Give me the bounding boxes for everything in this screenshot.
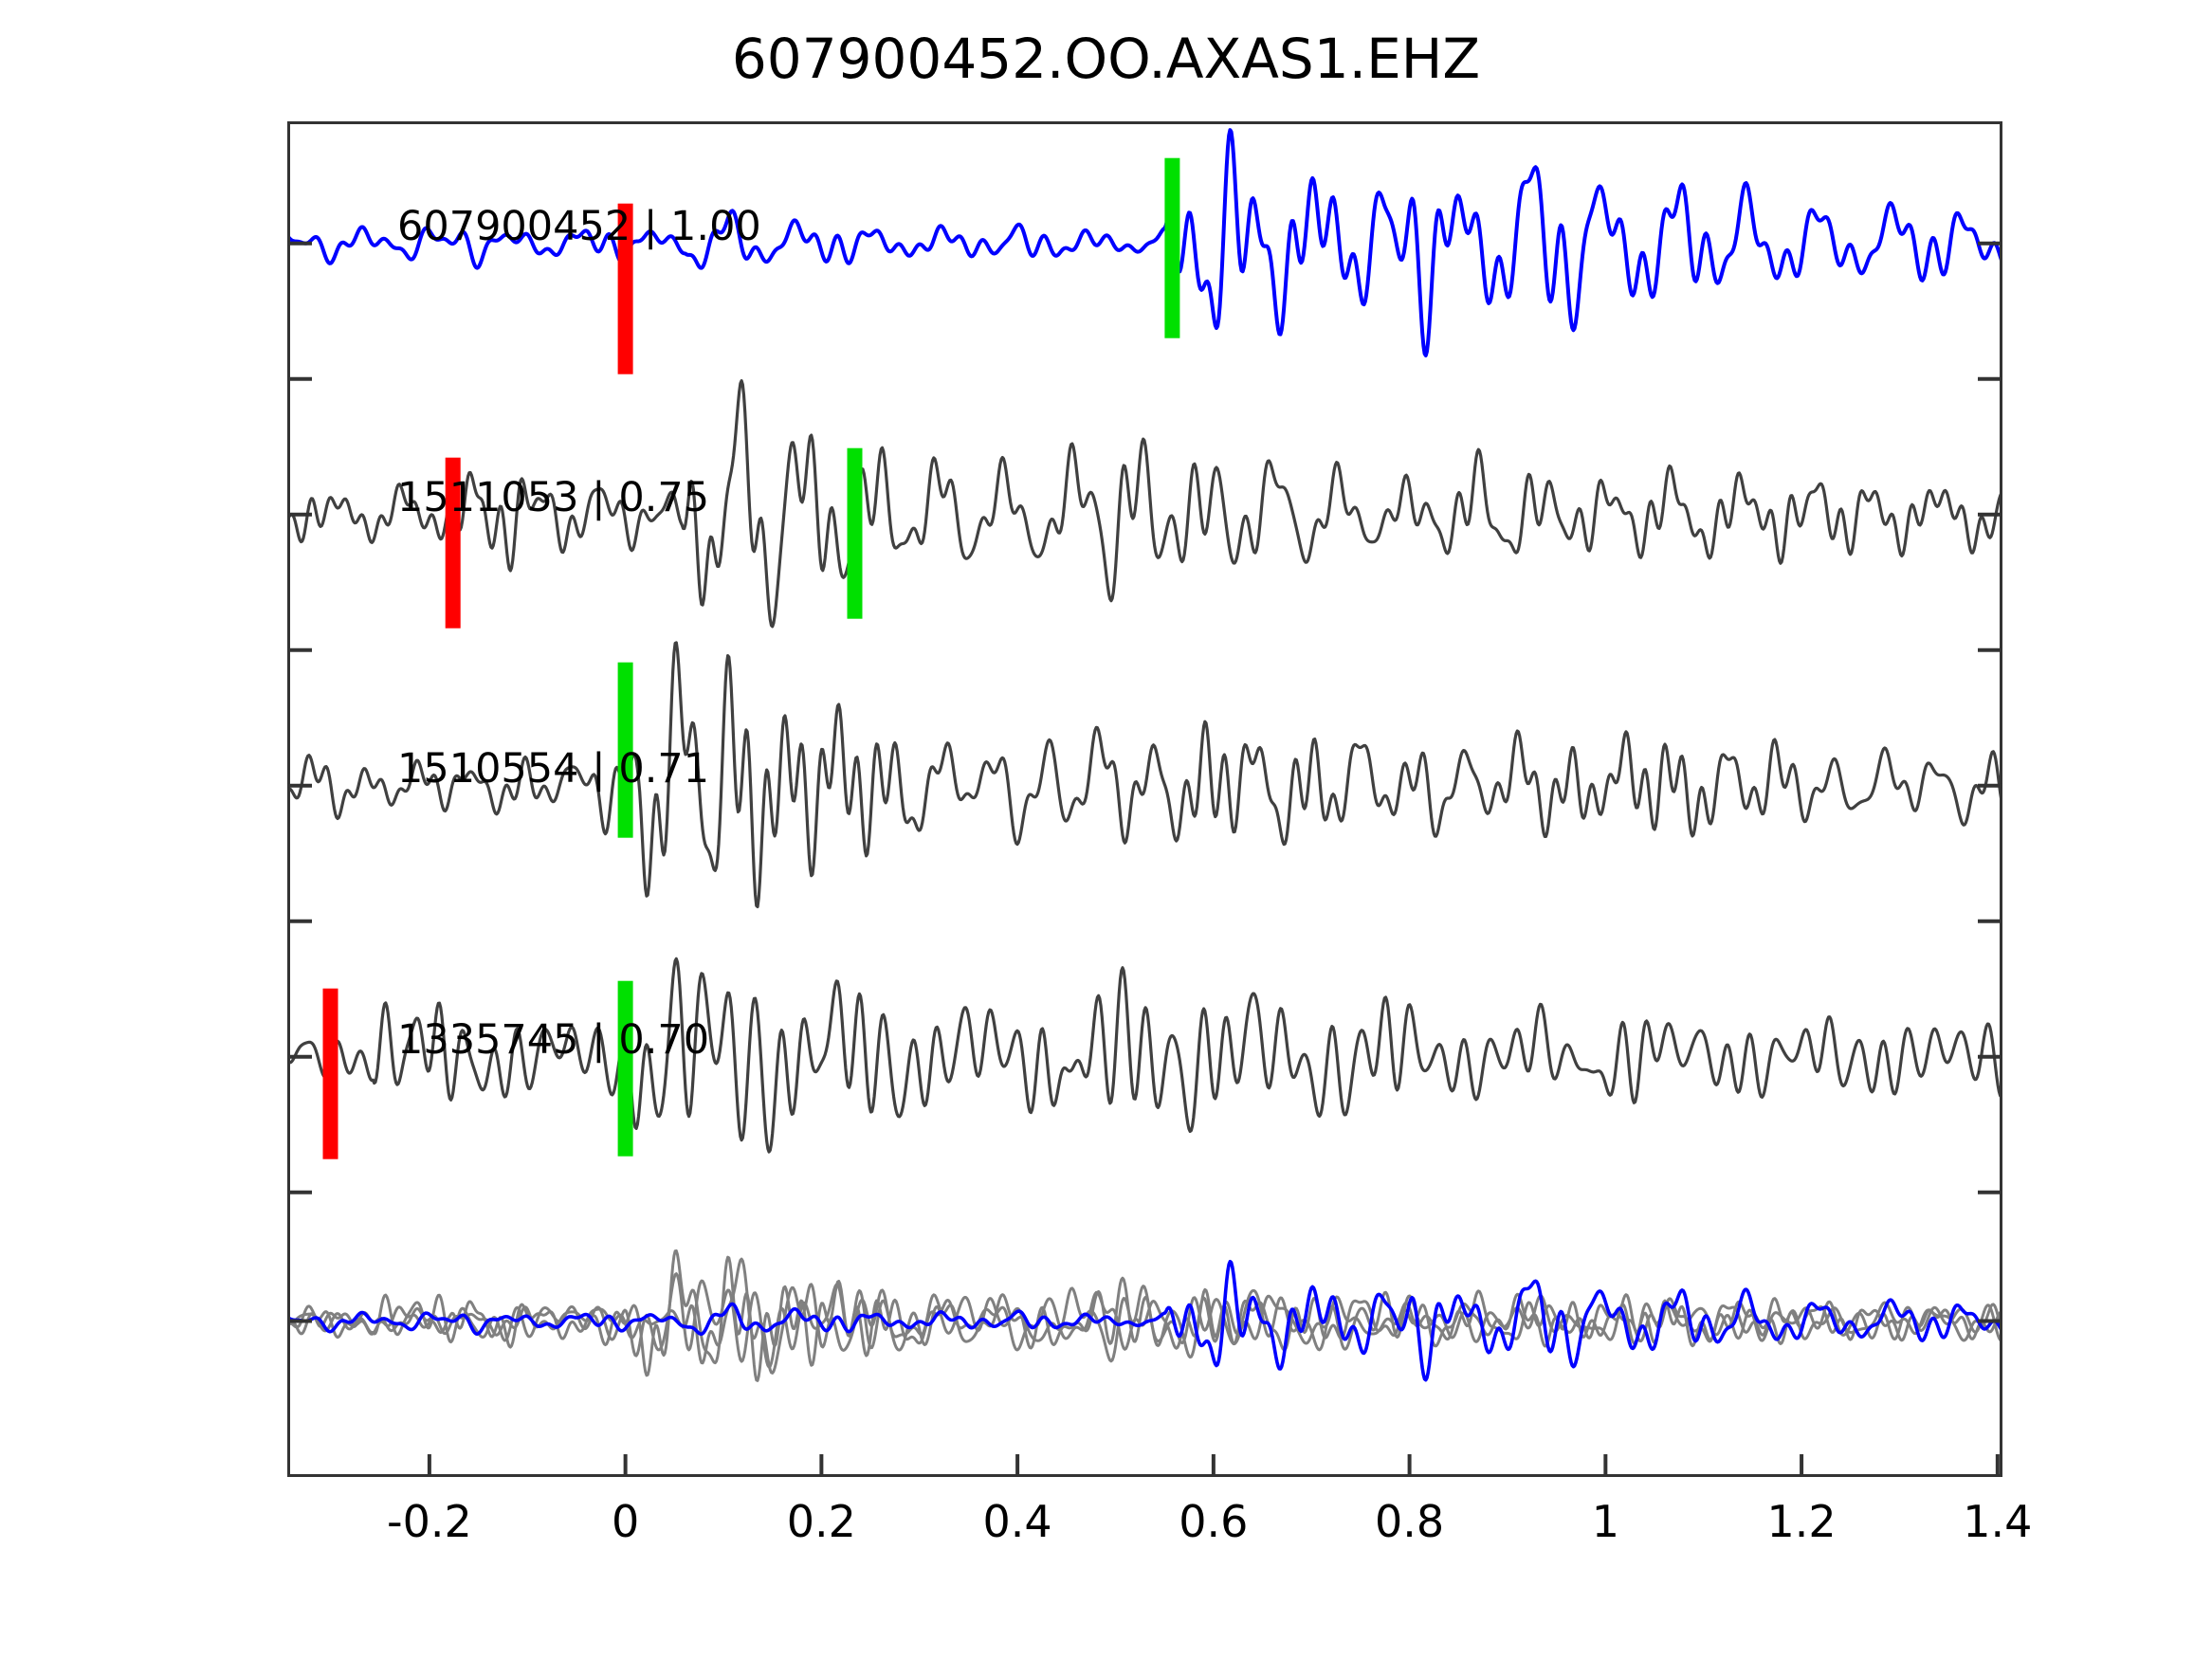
- trace-label-2: 1510554 | 0.71: [397, 745, 709, 793]
- s-pick-marker: [618, 981, 633, 1157]
- x-tick-label: 0.8: [1375, 1496, 1444, 1547]
- plot-area: 607900452 | 1.00 1511053 | 0.75 1510554 …: [287, 121, 2002, 1477]
- axes-frame: [288, 122, 2002, 1476]
- p-pick-marker: [323, 989, 338, 1159]
- seismogram-figure: 607900452.OO.AXAS1.EHZ 607900452 | 1.00 …: [0, 0, 2212, 1659]
- x-tick-label: 1.4: [1963, 1496, 2032, 1547]
- s-pick-marker: [1164, 158, 1179, 338]
- x-tick-label: 0.2: [787, 1496, 856, 1547]
- trace-label-0: 607900452 | 1.00: [397, 203, 761, 250]
- x-tick-label: 0.4: [983, 1496, 1052, 1547]
- x-tick-label: 0.6: [1179, 1496, 1248, 1547]
- waveform-canvas: [287, 121, 2002, 1477]
- x-tick-label: 1: [1592, 1496, 1619, 1547]
- x-tick-label: 0: [612, 1496, 639, 1547]
- s-pick-marker: [848, 448, 863, 619]
- x-tick-label: 1.2: [1767, 1496, 1837, 1547]
- page-title: 607900452.OO.AXAS1.EHZ: [0, 27, 2212, 91]
- trace-label-3: 1335745 | 0.70: [397, 1016, 709, 1064]
- x-axis-tick-labels: -0.200.20.40.60.811.21.4: [0, 1496, 2212, 1572]
- plot-frame: [288, 122, 2002, 1476]
- trace-label-1: 1511053 | 0.75: [397, 474, 709, 521]
- x-tick-label: -0.2: [387, 1496, 472, 1547]
